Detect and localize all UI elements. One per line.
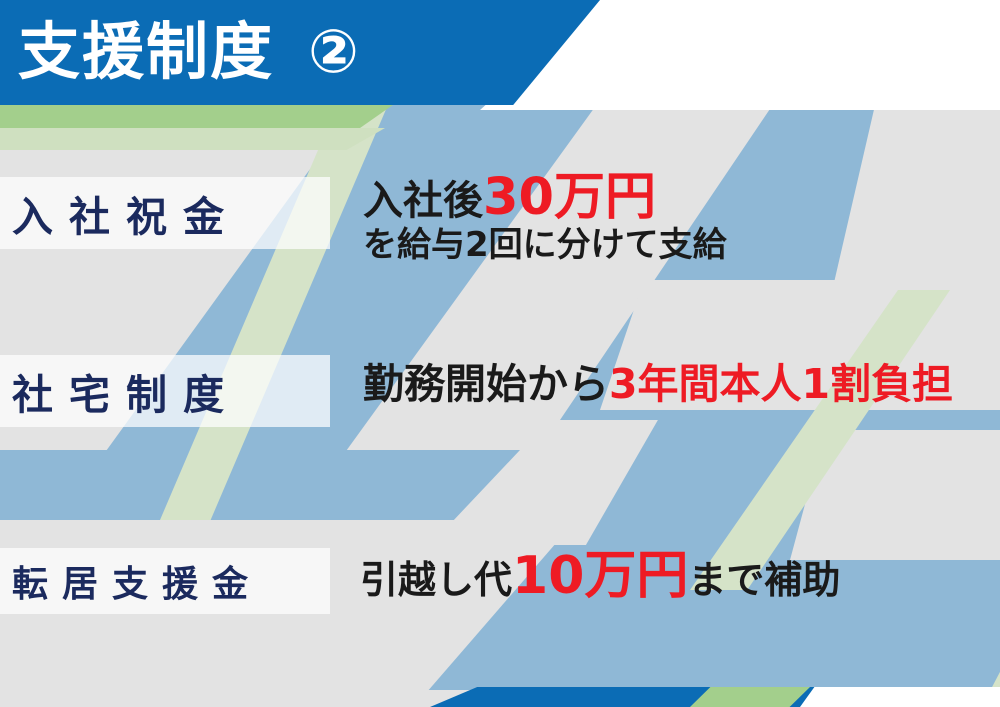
benefit-value-3-line1-pre: 引越し代 — [360, 558, 512, 602]
benefit-value-1-line2: を給与2回に分けて支給 — [363, 227, 727, 264]
title-label: 支援制度 — [18, 15, 274, 88]
benefit-value-1-line1-highlight: 30万円 — [483, 168, 656, 227]
benefit-value-1-line1-pre: 入社後 — [363, 178, 483, 224]
benefit-value-1-line2-pre: を給与2回に分けて支給 — [363, 225, 727, 265]
benefit-value-2-line1-highlight: 3年間本人1割負担 — [609, 360, 953, 408]
benefit-value-3-line1: 引越し代10万円まで補助 — [360, 548, 840, 604]
benefit-label-box-2: 社宅制度 — [0, 355, 330, 427]
benefit-label-1: 入社祝金 — [0, 183, 240, 243]
footer-accent-white-bar — [800, 687, 1000, 707]
benefit-value-2-line1-pre: 勤務開始から — [363, 360, 609, 408]
benefit-label-3: 転居支援金 — [0, 555, 262, 607]
slide-canvas: 支援制度② 入社祝金 入社後30万円 を給与2回に分けて支給 社宅制度 勤務開始… — [0, 0, 1000, 707]
benefit-label-2: 社宅制度 — [0, 361, 240, 421]
title-underline-green-bar-soft — [0, 128, 385, 150]
benefit-value-1-line1: 入社後30万円 — [363, 170, 727, 225]
benefit-label-box-1: 入社祝金 — [0, 177, 330, 249]
benefit-value-3-line1-highlight: 10万円 — [512, 546, 688, 606]
benefit-label-box-3: 転居支援金 — [0, 548, 330, 614]
benefit-value-3: 引越し代10万円まで補助 — [360, 548, 840, 604]
benefit-value-2: 勤務開始から3年間本人1割負担 — [363, 362, 953, 406]
footer-accent-green-bar — [690, 687, 810, 707]
benefit-value-3-line1-post: まで補助 — [688, 558, 840, 602]
benefit-value-2-line1: 勤務開始から3年間本人1割負担 — [363, 362, 953, 406]
title-number-badge: ② — [308, 8, 361, 96]
page-title: 支援制度② — [18, 8, 361, 96]
benefit-value-1: 入社後30万円 を給与2回に分けて支給 — [363, 170, 727, 264]
